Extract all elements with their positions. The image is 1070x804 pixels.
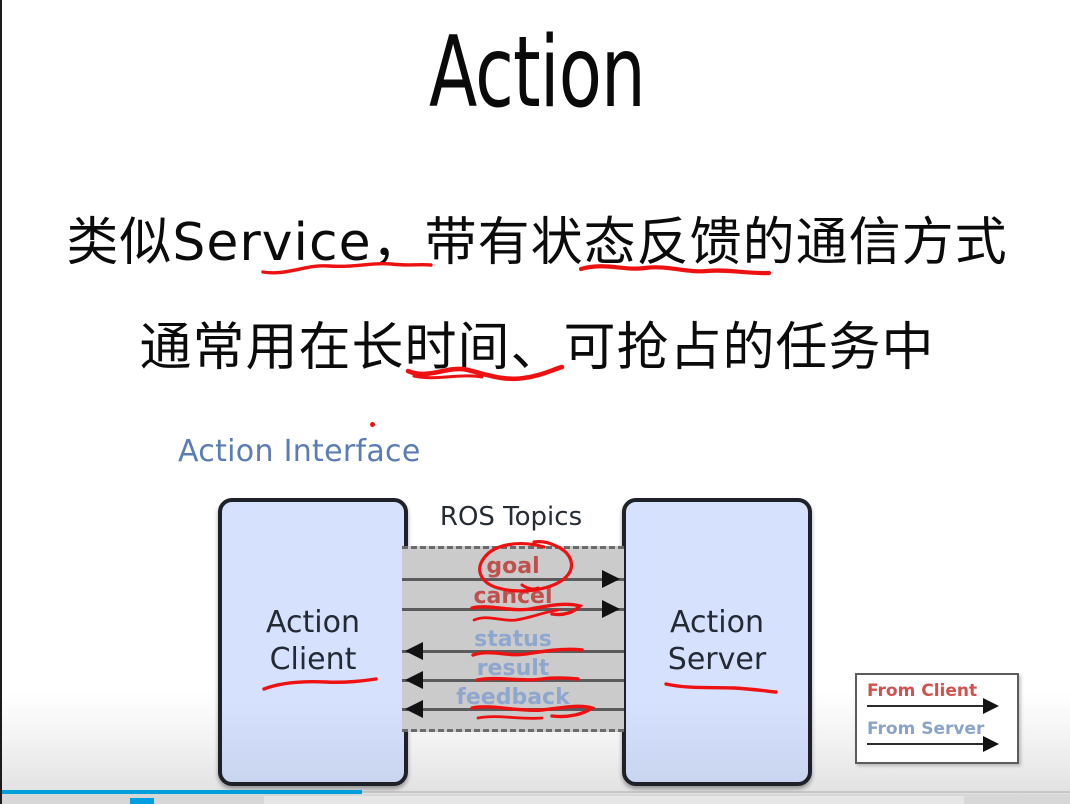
topic-label-status: status: [402, 627, 624, 652]
slide-body-line-1: 类似Service，带有状态反馈的通信方式: [2, 200, 1070, 275]
legend-row-from-server: From Server: [867, 719, 1009, 739]
arrow-right-icon-legend-server: [983, 736, 999, 752]
action-server-label-line1: Action: [670, 605, 764, 642]
action-server-node: Action Server: [622, 498, 812, 786]
action-server-label-line2: Server: [668, 642, 766, 679]
legend-row-from-client: From Client: [867, 681, 1009, 701]
slide-body-line-2: 通常用在长时间、可抢占的任务中: [2, 305, 1070, 380]
topic-label-cancel: cancel: [402, 584, 624, 609]
page-title: Action: [109, 22, 965, 125]
ros-topics-header: ROS Topics: [400, 502, 622, 532]
action-interface-diagram: Action Client Action Server ROS Topics g…: [2, 470, 1070, 804]
action-interface-caption: Action Interface: [178, 434, 421, 469]
legend-line-server: [867, 743, 985, 745]
ink-dot-marker: [370, 422, 375, 427]
action-client-label-line2: Client: [270, 642, 357, 679]
toolbar-active-tab[interactable]: [130, 798, 154, 804]
slide-screen: Action 类似Service，带有状态反馈的通信方式 通常用在长时间、可抢占…: [0, 0, 1070, 804]
topic-label-goal: goal: [402, 554, 624, 579]
action-client-label-line1: Action: [266, 605, 360, 642]
arrow-right-icon-legend-client: [983, 698, 999, 714]
diagram-legend: From Client From Server: [855, 673, 1019, 764]
toolbar-panel: [264, 796, 964, 804]
topic-label-feedback: feedback: [402, 685, 624, 710]
legend-line-client: [867, 705, 985, 707]
topic-label-result: result: [402, 656, 624, 681]
action-client-node: Action Client: [218, 498, 408, 786]
